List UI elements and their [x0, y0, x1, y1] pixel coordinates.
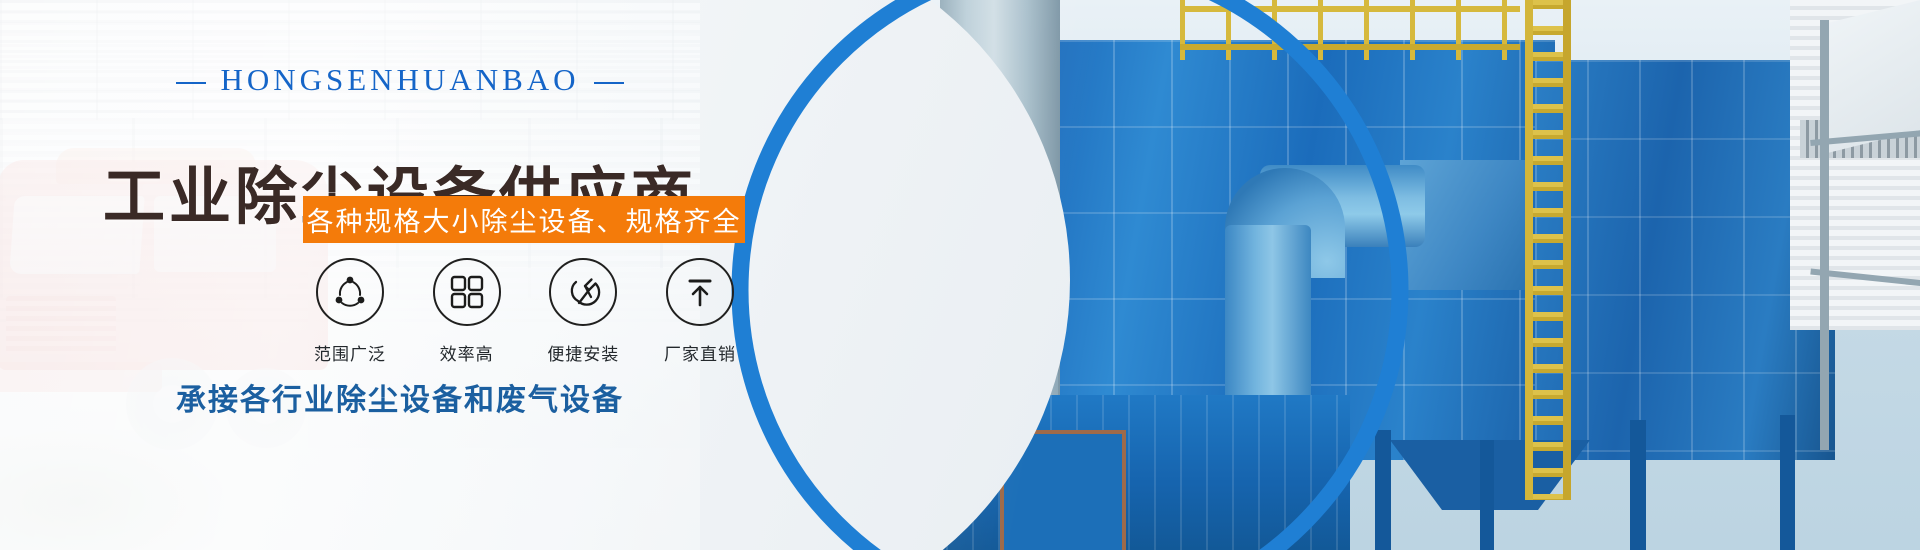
- badge-highlight: 各种规格大小除尘设备、规格齐全: [303, 196, 745, 243]
- network-nodes-icon: [316, 258, 384, 326]
- feature-label: 效率高: [417, 340, 517, 365]
- feature-list: 范围广泛 效率高: [300, 258, 750, 365]
- tagline: HONGSENHUANBAO: [0, 62, 800, 98]
- industrial-equipment-photo: [790, 0, 1920, 550]
- photo-haze-overlay: [790, 0, 1920, 550]
- wrench-tool-icon: [549, 258, 617, 326]
- feature-label: 厂家直销: [650, 340, 750, 365]
- badge-text: 各种规格大小除尘设备、规格齐全: [307, 200, 742, 239]
- feature-item-factory-direct[interactable]: 厂家直销: [650, 258, 750, 365]
- hero-banner: HONGSENHUANBAO 工业除尘设备供应商 各种规格大小除尘设备、规格齐全: [0, 0, 1920, 550]
- feature-label: 便捷安装: [533, 340, 633, 365]
- feature-label: 范围广泛: [300, 340, 400, 365]
- dash-right-icon: [594, 82, 624, 84]
- grid-squares-icon: [433, 258, 501, 326]
- feature-item-installation[interactable]: 便捷安装: [533, 258, 633, 365]
- feature-item-efficiency[interactable]: 效率高: [417, 258, 517, 365]
- up-arrow-icon: [666, 258, 734, 326]
- subline: 承接各行业除尘设备和废气设备: [0, 375, 800, 419]
- dash-left-icon: [176, 82, 206, 84]
- feature-item-range[interactable]: 范围广泛: [300, 258, 400, 365]
- tagline-text: HONGSENHUANBAO: [220, 62, 579, 97]
- banner-text-block: HONGSENHUANBAO 工业除尘设备供应商 各种规格大小除尘设备、规格齐全: [0, 0, 800, 550]
